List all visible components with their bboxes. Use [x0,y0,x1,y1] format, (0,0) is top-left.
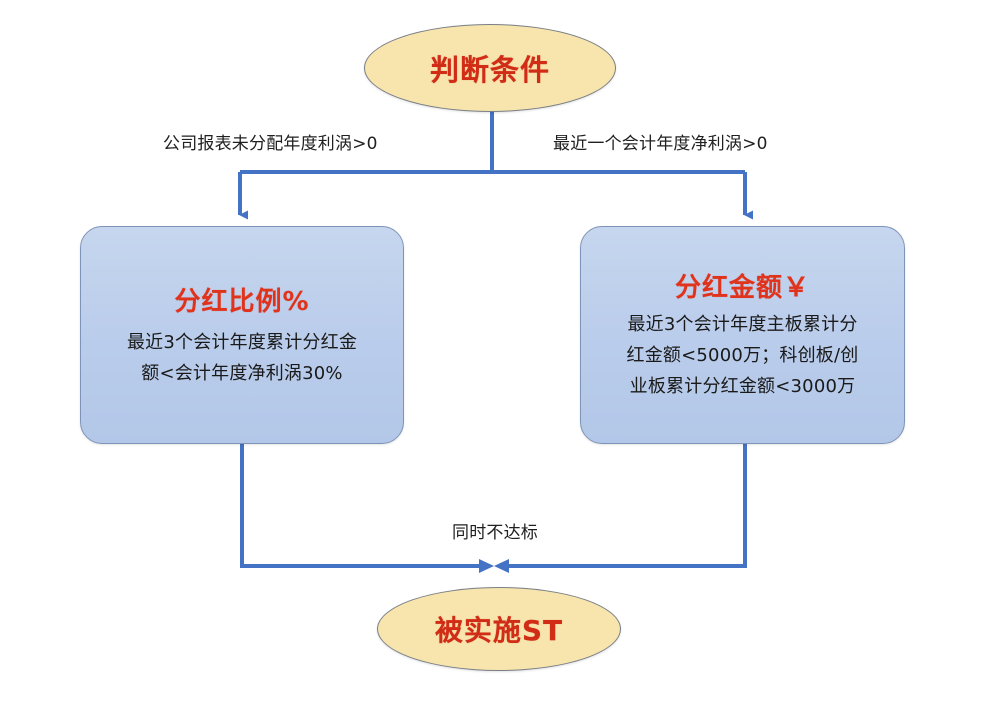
node-dividend-ratio-title: 分红比例% [174,281,309,318]
node-dividend-amount-body-line: 红金额<5000万；科创板/创 [627,341,859,372]
node-dividend-ratio[interactable]: 分红比例% 最近3个会计年度累计分红金 额<会计年度净利涡30% [80,226,404,444]
node-dividend-ratio-body-line: 额<会计年度净利涡30% [127,359,357,390]
node-decision[interactable]: 判断条件 [364,24,616,112]
node-dividend-amount-title: 分红金额￥ [675,267,810,304]
node-dividend-amount-body-line: 业板累计分红金额<3000万 [627,372,859,403]
diagram-canvas: 判断条件 公司报表未分配年度利涡>0 最近一个会计年度净利涡>0 分红比例% 最… [0,0,1000,704]
node-dividend-ratio-body: 最近3个会计年度累计分红金 额<会计年度净利涡30% [127,328,357,390]
node-dividend-amount[interactable]: 分红金额￥ 最近3个会计年度主板累计分 红金额<5000万；科创板/创 业板累计… [580,226,905,444]
edge-label-right-branch: 最近一个会计年度净利涡>0 [553,129,768,154]
node-result-st-title: 被实施ST [435,609,563,649]
node-result-st[interactable]: 被实施ST [377,587,621,671]
node-dividend-amount-body-line: 最近3个会计年度主板累计分 [627,310,859,341]
node-decision-title: 判断条件 [430,47,550,89]
merge-arrowhead-left [494,559,509,573]
merge-arrowhead-right [479,559,494,573]
edge-label-merge: 同时不达标 [452,518,538,543]
node-dividend-ratio-body-line: 最近3个会计年度累计分红金 [127,328,357,359]
node-dividend-amount-body: 最近3个会计年度主板累计分 红金额<5000万；科创板/创 业板累计分红金额<3… [627,310,859,403]
edge-amount-to-result [502,444,745,566]
edge-ratio-to-result [242,444,486,566]
edge-label-left-branch: 公司报表未分配年度利涡>0 [163,129,378,154]
